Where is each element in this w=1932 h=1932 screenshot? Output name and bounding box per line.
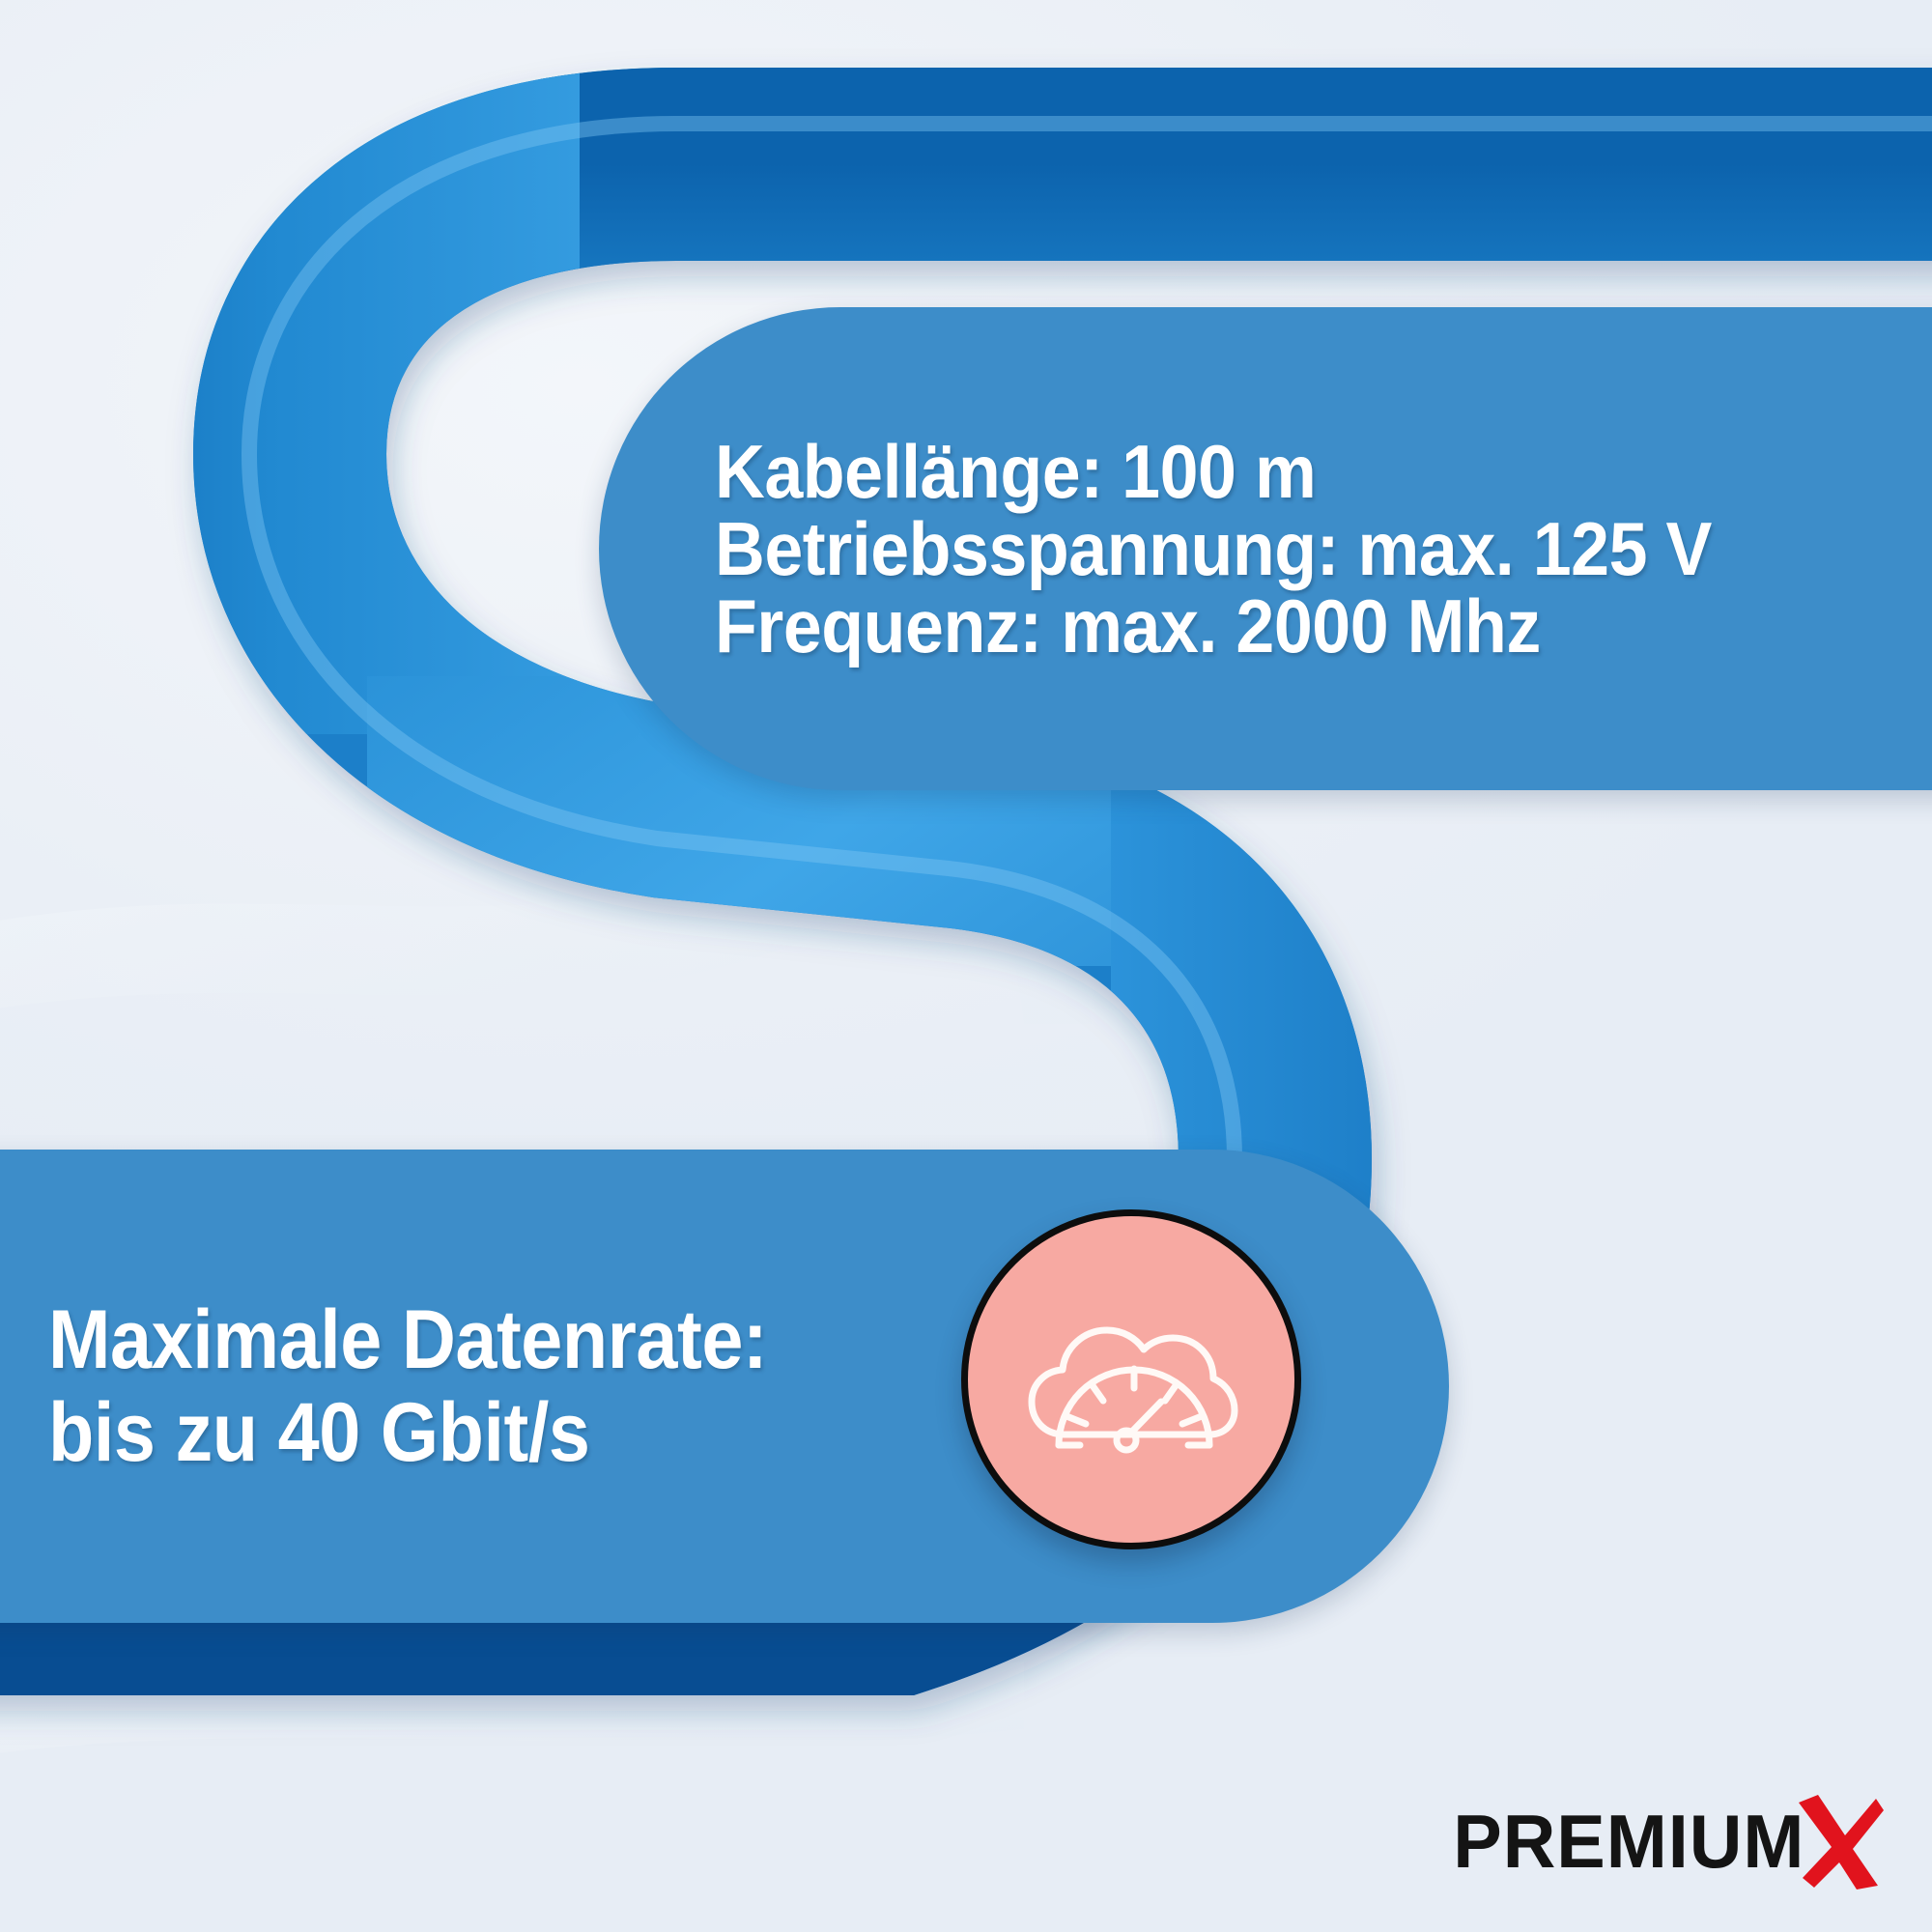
cable-graphic <box>0 0 1932 1932</box>
spec-panel: Kabellänge: 100 m Betriebsspannung: max.… <box>599 307 1932 790</box>
speed-badge <box>961 1209 1301 1549</box>
background-decoration <box>0 0 1932 1932</box>
x-icon <box>1793 1793 1886 1889</box>
brand-wordmark: PREMIUM <box>1453 1804 1804 1879</box>
product-feature-graphic: Kabellänge: 100 m Betriebsspannung: max.… <box>0 0 1932 1932</box>
spec-text-block: Kabellänge: 100 m Betriebsspannung: max.… <box>715 433 1712 666</box>
datarate-text-block: Maximale Datenrate: bis zu 40 Gbit/s <box>48 1293 767 1480</box>
datarate-line-value: bis zu 40 Gbit/s <box>48 1386 767 1479</box>
brand-logo: PREMIUM <box>1442 1793 1886 1889</box>
spec-line-cable-length: Kabellänge: 100 m <box>715 433 1712 510</box>
spec-line-operating-voltage: Betriebsspannung: max. 125 V <box>715 510 1712 587</box>
datarate-line-title: Maximale Datenrate: <box>48 1293 767 1386</box>
spec-line-frequency: Frequenz: max. 2000 Mhz <box>715 587 1712 665</box>
brand-x-mark <box>1793 1793 1886 1889</box>
cloud-speedometer-icon <box>1020 1288 1242 1471</box>
